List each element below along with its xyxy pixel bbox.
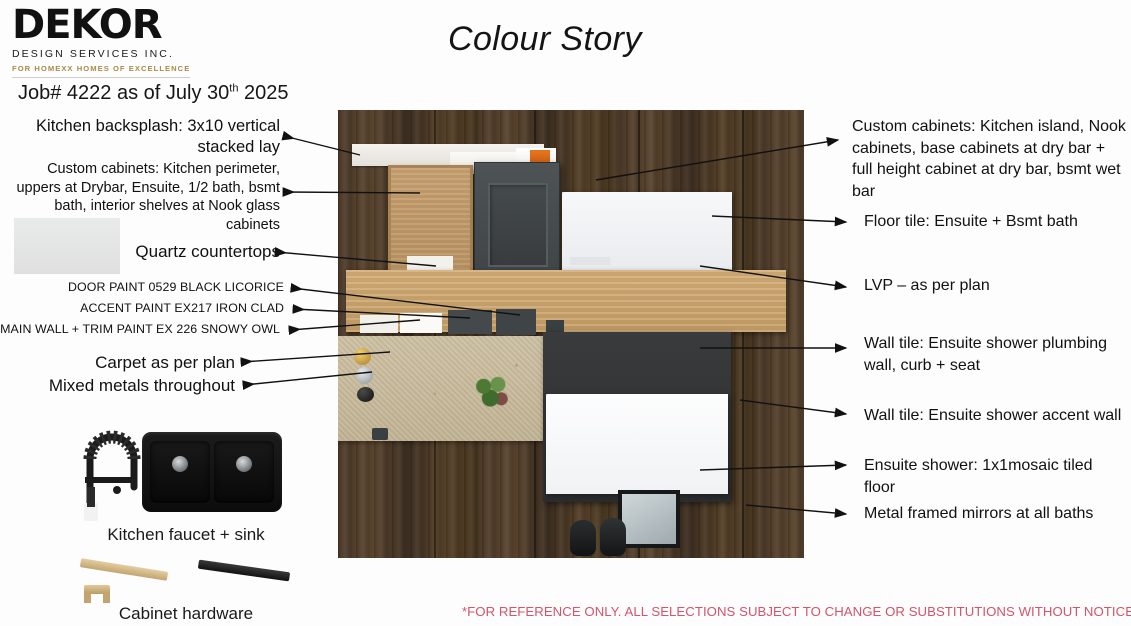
gold-cabinet-pull-short xyxy=(84,585,110,594)
annotation-lvp: LVP – as per plan xyxy=(864,277,1124,295)
annotation-custom-cabinets-right: Custom cabinets: Kitchen island, Nook ca… xyxy=(852,116,1127,202)
paint-chip-charcoal xyxy=(448,310,492,334)
annotation-metal-mirrors: Metal framed mirrors at all baths xyxy=(864,505,1126,523)
sink-drain-right xyxy=(236,456,252,472)
charcoal-shaker-door-sample xyxy=(474,162,560,284)
paint-chip-white xyxy=(400,313,442,333)
reference-disclaimer: *FOR REFERENCE ONLY. ALL SELECTIONS SUBJ… xyxy=(462,604,1131,619)
decorative-plant xyxy=(471,373,513,411)
annotation-wall-tile-plumbing: Wall tile: Ensuite shower plumbing wall,… xyxy=(864,333,1119,376)
job-number-prefix: Job# 4222 as of July 30 xyxy=(18,82,229,104)
sink-bowl-left xyxy=(150,441,210,503)
shoe xyxy=(570,520,596,556)
paint-chip-charcoal xyxy=(496,309,536,335)
annotation-accent-paint: ACCENT PAINT EX217 IRON CLAD xyxy=(20,301,284,315)
material-collage-photo xyxy=(338,110,804,558)
tile-label xyxy=(570,257,610,265)
colour-story-board: DEKOR DESIGN SERVICES INC. FOR HOMEXX HO… xyxy=(0,0,1131,626)
mini-faucet-sample xyxy=(372,428,388,440)
white-marble-slab-sample xyxy=(546,394,728,494)
company-logo: DEKOR DESIGN SERVICES INC. FOR HOMEXX HO… xyxy=(12,4,192,78)
annotation-carpet: Carpet as per plan xyxy=(40,353,235,373)
caption-kitchen-faucet-sink: Kitchen faucet + sink xyxy=(66,525,306,545)
annotation-floor-tile: Floor tile: Ensuite + Bsmt bath xyxy=(864,213,1124,231)
plank-seam xyxy=(742,110,744,558)
shoe xyxy=(600,518,626,556)
white-marble-floor-tile-sample xyxy=(562,192,732,270)
gold-cabinet-pull-long xyxy=(80,558,168,581)
job-number-line: Job# 4222 as of July 30th 2025 xyxy=(18,82,289,105)
oak-cabinet-door-sample xyxy=(388,165,473,282)
logo-tagline: FOR HOMEXX HOMES OF EXCELLENCE xyxy=(12,63,192,74)
annotation-door-paint: DOOR PAINT 0529 BLACK LICORICE xyxy=(20,280,284,294)
page-title: Colour Story xyxy=(448,20,642,59)
shaker-panel xyxy=(488,183,548,267)
chrome-metal-disc xyxy=(356,367,373,384)
black-cabinet-pull-long xyxy=(198,560,290,582)
sink-drain-left xyxy=(172,456,188,472)
annotation-kitchen-backsplash: Kitchen backsplash: 3x10 vertical stacke… xyxy=(30,116,280,158)
gold-metal-disc xyxy=(354,348,371,365)
annotation-mixed-metals: Mixed metals throughout xyxy=(10,376,235,396)
kitchen-sink-image xyxy=(142,432,282,512)
sink-bowl-right xyxy=(214,441,274,503)
caption-cabinet-hardware: Cabinet hardware xyxy=(66,604,306,624)
annotation-wall-tile-accent: Wall tile: Ensuite shower accent wall xyxy=(864,405,1126,427)
logo-subtitle: DESIGN SERVICES INC. xyxy=(12,47,192,61)
paint-chip-white xyxy=(360,315,398,333)
annotation-quartz-countertops: Quartz countertops xyxy=(80,242,280,262)
annotation-ensuite-mosaic: Ensuite shower: 1x1mosaic tiled floor xyxy=(864,455,1126,498)
logo-wordmark: DEKOR xyxy=(12,4,192,46)
black-metal-disc xyxy=(357,387,374,402)
metal-framed-mirror-sample xyxy=(618,490,680,548)
job-year: 2025 xyxy=(238,82,288,104)
logo-divider xyxy=(12,77,190,78)
annotation-main-wall-paint: MAIN WALL + TRIM PAINT EX 226 SNOWY OWL xyxy=(0,322,280,336)
